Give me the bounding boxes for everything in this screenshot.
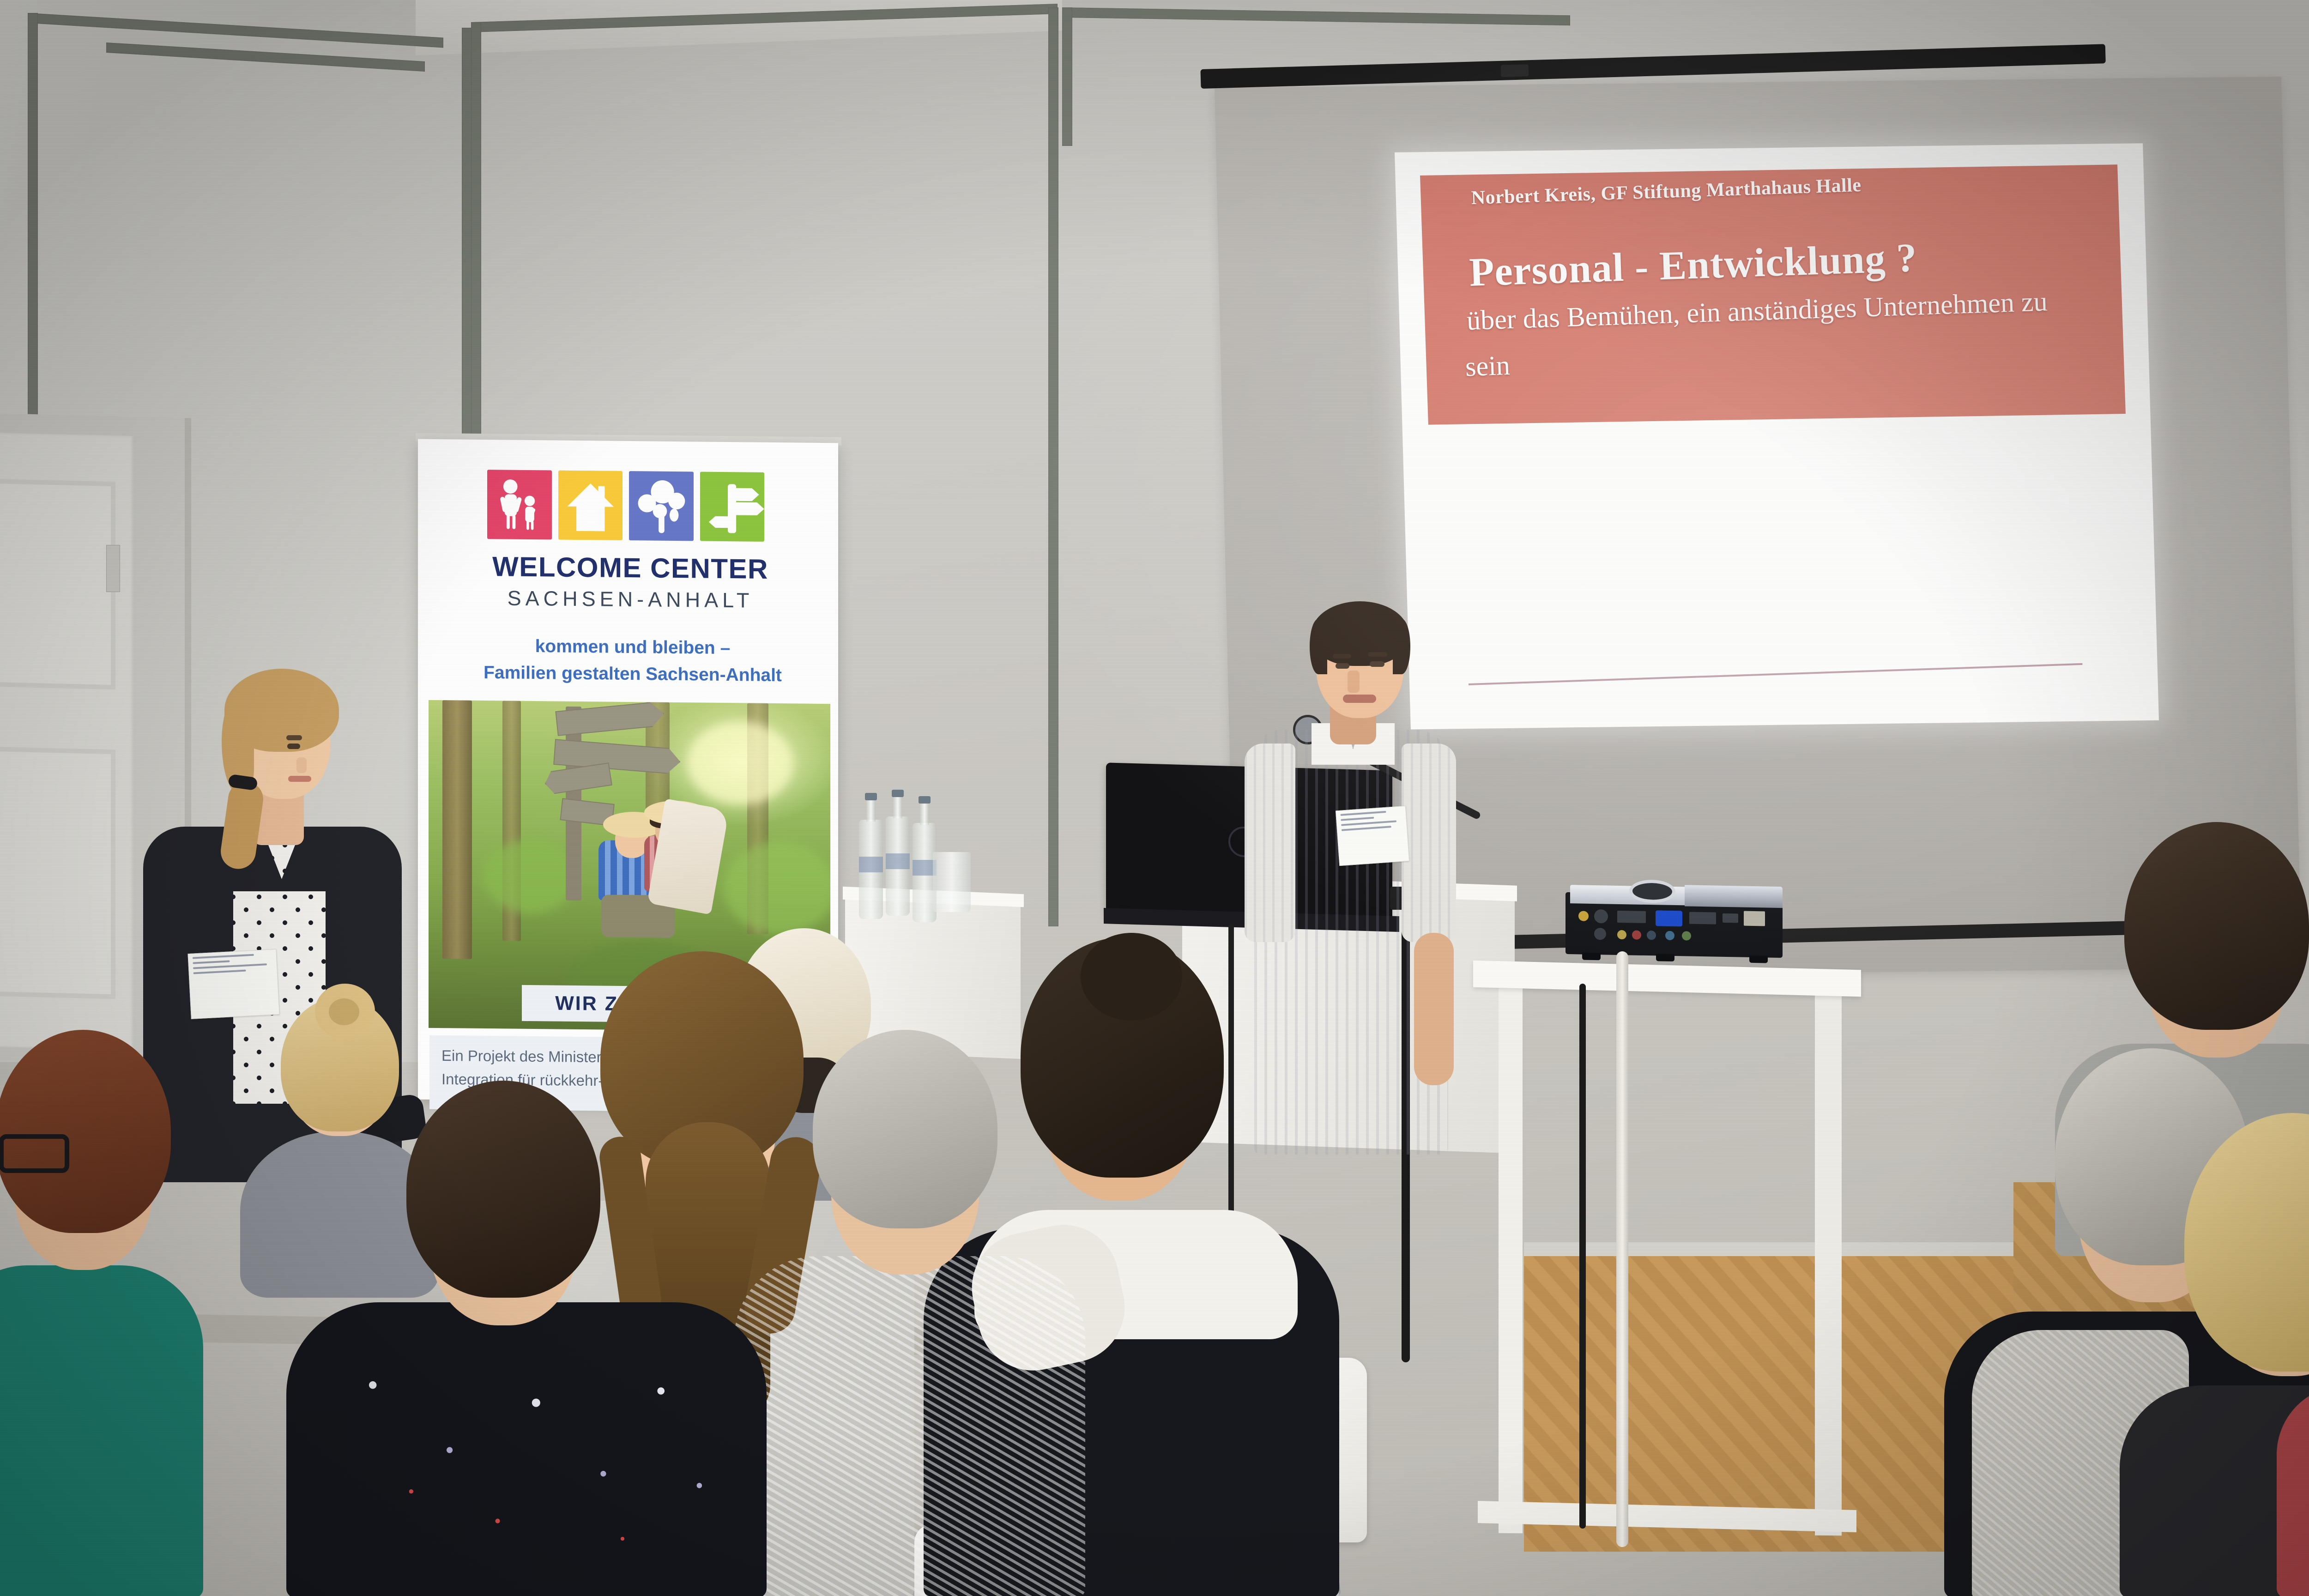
banner-claim-line2: Familien gestalten Sachsen-Anhalt [462,662,804,686]
slide-subtitle-line2: sein [1465,350,1511,383]
speaker-name-badge [1336,806,1409,866]
door-panel-upper [0,479,115,690]
signal-cable-black [1579,984,1586,1529]
presentation-room-photo: Norbert Kreis, GF Stiftung Marthahaus Ha… [0,0,2309,1596]
signpost-icon [700,472,765,542]
banner-claim-line1: kommen und bleiben – [466,636,799,659]
wall-moulding-vertical [1048,7,1058,926]
banner-region: SACHSEN-ANHALT [487,586,774,613]
house-icon [558,471,623,540]
wall-moulding-vertical [1062,7,1072,146]
tree-icon [629,471,694,541]
family-icon [487,470,552,539]
door-hinge [106,545,120,592]
desktop-projector[interactable] [1566,876,1783,958]
attendee-floral-jacket [277,1062,776,1596]
welcome-center-logo [487,470,764,542]
vga-connector-blue[interactable] [1656,910,1682,926]
screen-roller-knob[interactable] [1501,64,1529,77]
banner-org-name: WELCOME CENTER [487,550,774,585]
projector-stand-leg [1815,986,1842,1536]
projector-stand-leg [1499,988,1523,1533]
attendee-teal-left [0,979,203,1596]
attendee-rightmost [2277,1145,2309,1596]
power-cable-white [1616,951,1628,1547]
door-panel-lower [0,747,115,999]
